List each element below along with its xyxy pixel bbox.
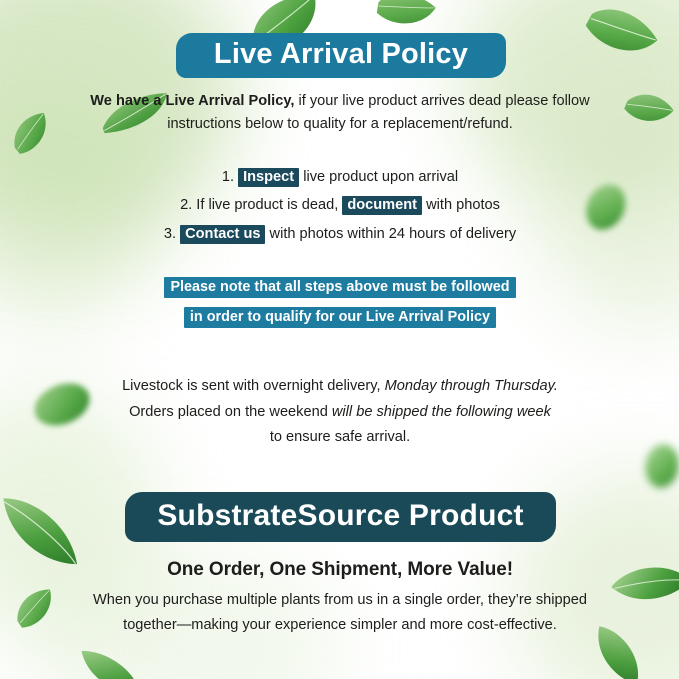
intro-bold-lead: We have a Live Arrival Policy, <box>90 93 294 109</box>
steps-list: 1. Inspect live product upon arrival 2. … <box>60 163 620 248</box>
outro-line-2: together—making your experience simpler … <box>60 613 620 638</box>
live-arrival-policy-infographic: Live Arrival Policy We have a Live Arriv… <box>0 0 679 679</box>
step-highlight: Contact us <box>180 225 265 244</box>
step-after: with photos <box>422 197 500 213</box>
list-item: 3. Contact us with photos within 24 hour… <box>60 220 620 248</box>
leaf-icon <box>3 579 66 639</box>
livestock-line-2-plain: Orders placed on the weekend <box>129 404 332 420</box>
livestock-line-2-italic: will be shipped the following week <box>332 404 551 420</box>
outro-line-1: When you purchase multiple plants from u… <box>60 588 620 613</box>
list-item: 1. Inspect live product upon arrival <box>60 163 620 191</box>
livestock-line-1-plain: Livestock is sent with overnight deliver… <box>122 378 385 394</box>
value-subheadline: One Order, One Shipment, More Value! <box>70 555 610 584</box>
step-before: If live product is dead, <box>192 197 342 213</box>
substratesource-product-banner: SubstrateSource Product <box>125 492 556 542</box>
note-line-wrap: Please note that all steps above must be… <box>60 273 620 303</box>
livestock-shipping-paragraph: Livestock is sent with overnight deliver… <box>70 374 610 451</box>
step-number: 3. <box>164 226 176 242</box>
live-arrival-policy-banner: Live Arrival Policy <box>176 33 506 78</box>
step-number: 1. <box>222 169 234 185</box>
leaf-icon <box>633 437 679 496</box>
leaf-icon <box>0 103 63 165</box>
step-highlight: Inspect <box>238 168 299 187</box>
leaf-icon <box>71 640 151 679</box>
leaf-icon <box>615 78 679 140</box>
step-highlight: document <box>342 196 422 215</box>
note-line-2: in order to qualify for our Live Arrival… <box>184 307 496 328</box>
note-line-1: Please note that all steps above must be… <box>164 277 515 298</box>
step-number: 2. <box>180 197 192 213</box>
livestock-line-3: to ensure safe arrival. <box>70 425 610 451</box>
livestock-line-1-italic: Monday through Thursday. <box>385 378 558 394</box>
policy-note-block: Please note that all steps above must be… <box>60 273 620 332</box>
banner-2-title: SubstrateSource Product <box>157 499 523 533</box>
banner-1-title: Live Arrival Policy <box>214 38 468 71</box>
step-after: live product upon arrival <box>299 169 458 185</box>
outro-paragraph: When you purchase multiple plants from u… <box>60 588 620 638</box>
livestock-line-1: Livestock is sent with overnight deliver… <box>70 374 610 400</box>
step-after: with photos within 24 hours of delivery <box>265 226 516 242</box>
livestock-line-2: Orders placed on the weekend will be shi… <box>70 400 610 426</box>
intro-paragraph: We have a Live Arrival Policy, if your l… <box>60 90 620 135</box>
list-item: 2. If live product is dead, document wit… <box>60 191 620 219</box>
note-line-wrap: in order to qualify for our Live Arrival… <box>60 303 620 333</box>
leaf-icon <box>574 0 666 78</box>
